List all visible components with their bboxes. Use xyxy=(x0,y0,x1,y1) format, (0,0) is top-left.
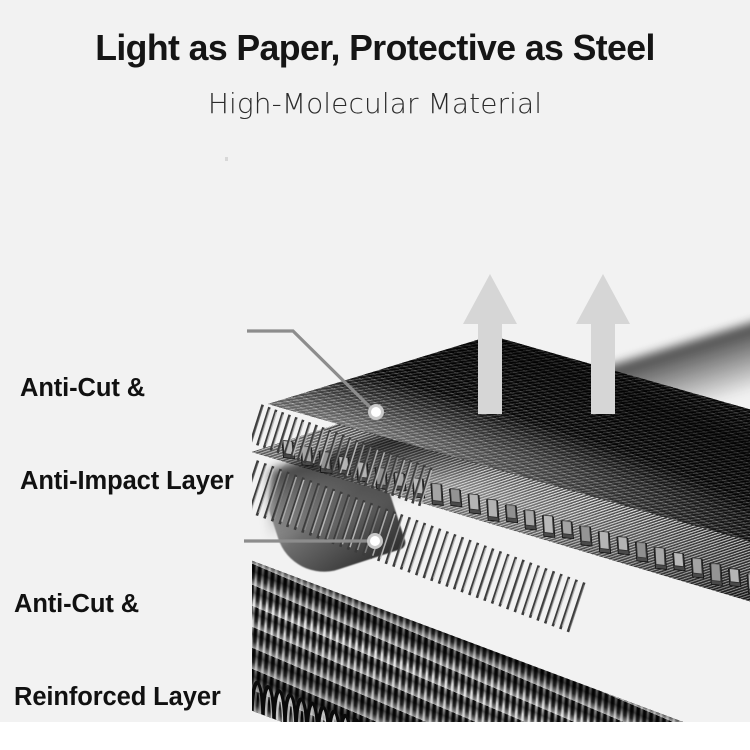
upward-force-arrow xyxy=(575,272,631,414)
poster-canvas: Light as Paper, Protective as Steel High… xyxy=(0,0,750,750)
callout-anti-impact-layer: Anti-Cut & Anti-Impact Layer xyxy=(20,311,234,559)
callout-reinforced-layer: Anti-Cut & Reinforced Layer xyxy=(14,527,221,750)
image-speck xyxy=(225,157,228,161)
callout-line-1: Anti-Cut & xyxy=(20,373,234,404)
callout-line-2: Anti-Impact Layer xyxy=(20,466,234,497)
callout-line-2: Reinforced Layer xyxy=(14,682,221,713)
callout-line-1: Anti-Cut & xyxy=(14,589,221,620)
page-subtitle: High-Molecular Material xyxy=(0,86,750,122)
page-title: Light as Paper, Protective as Steel xyxy=(4,26,747,70)
upward-force-arrow xyxy=(462,272,518,414)
